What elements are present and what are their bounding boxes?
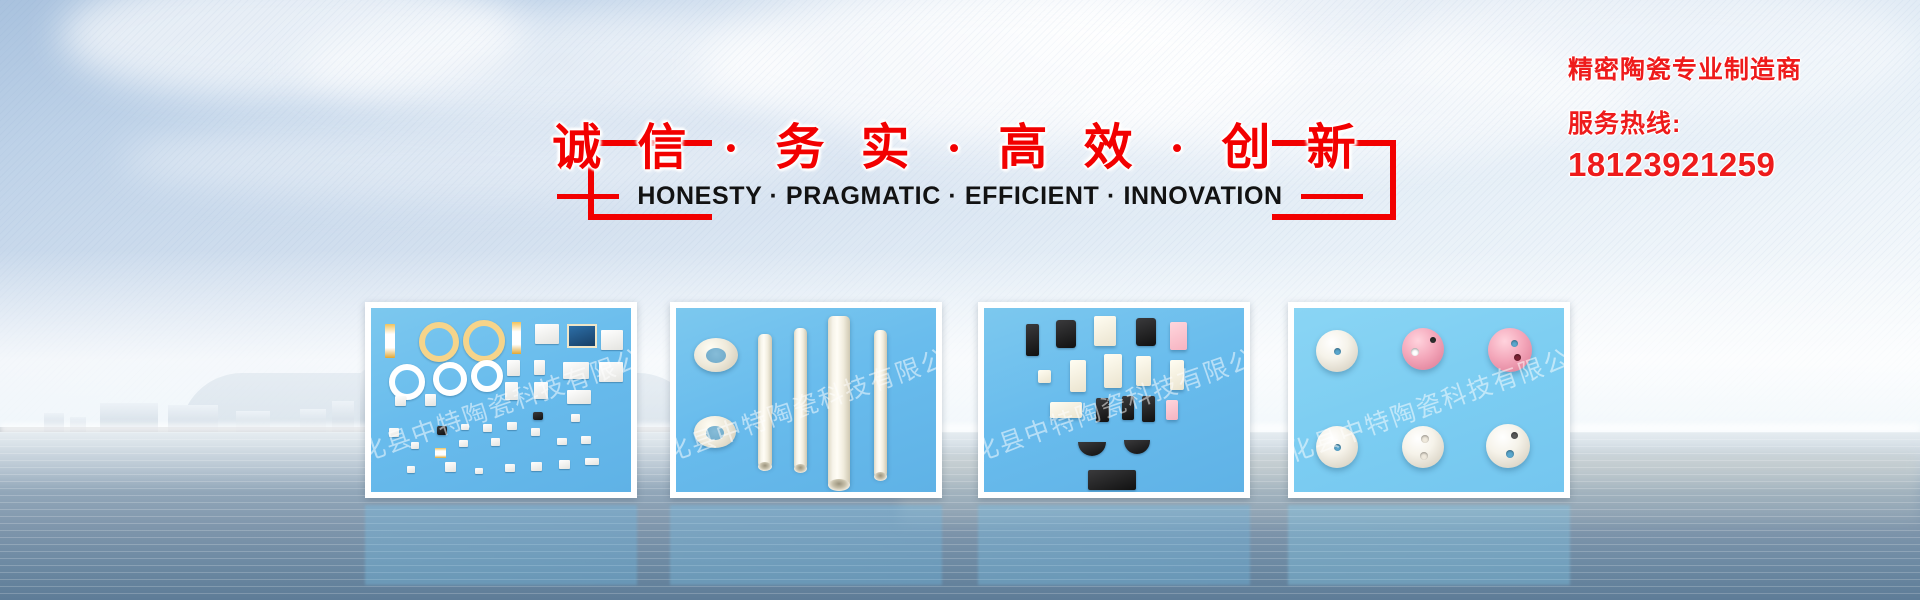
component (563, 362, 589, 379)
ceramic-part (1050, 402, 1082, 418)
ceramic-part (1104, 354, 1122, 388)
component (535, 324, 559, 344)
panel-reflection (1288, 505, 1570, 585)
component (475, 468, 483, 474)
component (534, 360, 545, 375)
product-panel-group: 新化县中特陶瓷科技有限公司 新化县中特陶瓷科技有限公 (0, 0, 1920, 600)
component (395, 396, 406, 406)
ceramic-part (1026, 324, 1039, 356)
panel-reflection (365, 505, 637, 585)
disc-hole (1511, 432, 1518, 439)
ceramic-tube (794, 328, 807, 470)
panel-ceramic-discs[interactable]: 新化县中特陶瓷科技有限公司 (1288, 302, 1570, 498)
ceramic-part (1166, 400, 1178, 420)
component (425, 394, 436, 406)
ceramic-disc (1316, 330, 1358, 372)
component (557, 438, 567, 445)
component (534, 382, 548, 399)
ceramic-disc (1402, 328, 1444, 370)
component (459, 440, 468, 447)
disc-hole (1421, 435, 1429, 443)
component (512, 322, 521, 354)
panel-smd-ceramic-components[interactable]: 新化县中特陶瓷科技有限公司 (365, 302, 637, 498)
ceramic-part (1088, 470, 1136, 490)
disc-hole (1334, 348, 1341, 355)
disc-hole (1411, 348, 1419, 356)
component (507, 360, 520, 376)
component (437, 426, 447, 435)
panel-reflection (978, 505, 1250, 585)
component (411, 442, 419, 449)
component (407, 466, 415, 473)
component (483, 424, 492, 432)
component (567, 324, 597, 348)
tube-bore (794, 464, 807, 473)
component (559, 460, 570, 469)
component (491, 438, 500, 446)
reflection-image (1288, 505, 1570, 585)
component (505, 382, 518, 400)
component (567, 390, 591, 404)
component (389, 364, 425, 400)
tube-bore (758, 462, 772, 471)
component (533, 412, 543, 420)
ceramic-ring (694, 416, 736, 448)
component (601, 330, 623, 350)
tube-bore (828, 479, 850, 491)
ceramic-disc (1316, 426, 1358, 468)
promo-banner: 诚 信 · 务 实 · 高 效 · 创 新 HONESTY · PRAGMATI… (0, 0, 1920, 600)
reflection-image (670, 505, 942, 585)
tube-bore (874, 472, 887, 481)
component (461, 424, 469, 430)
component (531, 462, 542, 471)
ceramic-part (1136, 318, 1156, 346)
component (505, 464, 515, 472)
ceramic-part (1122, 396, 1134, 420)
component (471, 360, 503, 392)
component (581, 436, 591, 444)
ceramic-tube (828, 316, 850, 488)
reflection-image (978, 505, 1250, 585)
disc-hole (1430, 337, 1436, 343)
disc-hole (1506, 450, 1514, 458)
ceramic-part (1170, 360, 1184, 390)
component (507, 422, 517, 430)
component (419, 322, 459, 362)
component (389, 428, 399, 437)
ceramic-part (1142, 396, 1155, 422)
ceramic-part (1096, 398, 1109, 422)
panel-reflection (670, 505, 942, 585)
ceramic-ring (694, 338, 738, 372)
disc-hole (1511, 340, 1518, 347)
panel-ceramic-tubes-rings[interactable]: 新化县中特陶瓷科技有限公司 (670, 302, 942, 498)
ceramic-part (1094, 316, 1116, 346)
ceramic-part (1170, 322, 1187, 350)
panel-image: 新化县中特陶瓷科技有限公司 (676, 308, 936, 492)
ceramic-part (1078, 442, 1106, 456)
ceramic-disc (1486, 424, 1530, 468)
component (433, 362, 467, 396)
disc-hole (1420, 452, 1428, 460)
ceramic-tube (874, 330, 887, 478)
component (463, 320, 505, 362)
panel-image: 新化县中特陶瓷科技有限公司 (371, 308, 631, 492)
ceramic-disc (1488, 328, 1532, 372)
ceramic-part (1056, 320, 1076, 348)
disc-hole (1334, 444, 1341, 451)
component (599, 362, 623, 382)
panel-image: 新化县中特陶瓷科技有限公司 (984, 308, 1244, 492)
component (385, 324, 395, 358)
panel-image: 新化县中特陶瓷科技有限公司 (1294, 308, 1564, 492)
ceramic-tube (758, 334, 772, 468)
panel-watermark: 新化县中特陶瓷科技有限公司 (984, 330, 1244, 478)
component (531, 428, 540, 436)
component (571, 414, 580, 422)
ceramic-disc (1402, 426, 1444, 468)
component (445, 462, 456, 472)
ceramic-part (1038, 370, 1051, 383)
component (585, 458, 599, 465)
ceramic-part (1136, 356, 1151, 386)
ceramic-part (1124, 440, 1150, 454)
disc-hole (1514, 354, 1521, 361)
panel-ceramic-blocks[interactable]: 新化县中特陶瓷科技有限公司 (978, 302, 1250, 498)
reflection-image (365, 505, 637, 585)
component (435, 448, 446, 458)
ceramic-part (1070, 360, 1086, 392)
